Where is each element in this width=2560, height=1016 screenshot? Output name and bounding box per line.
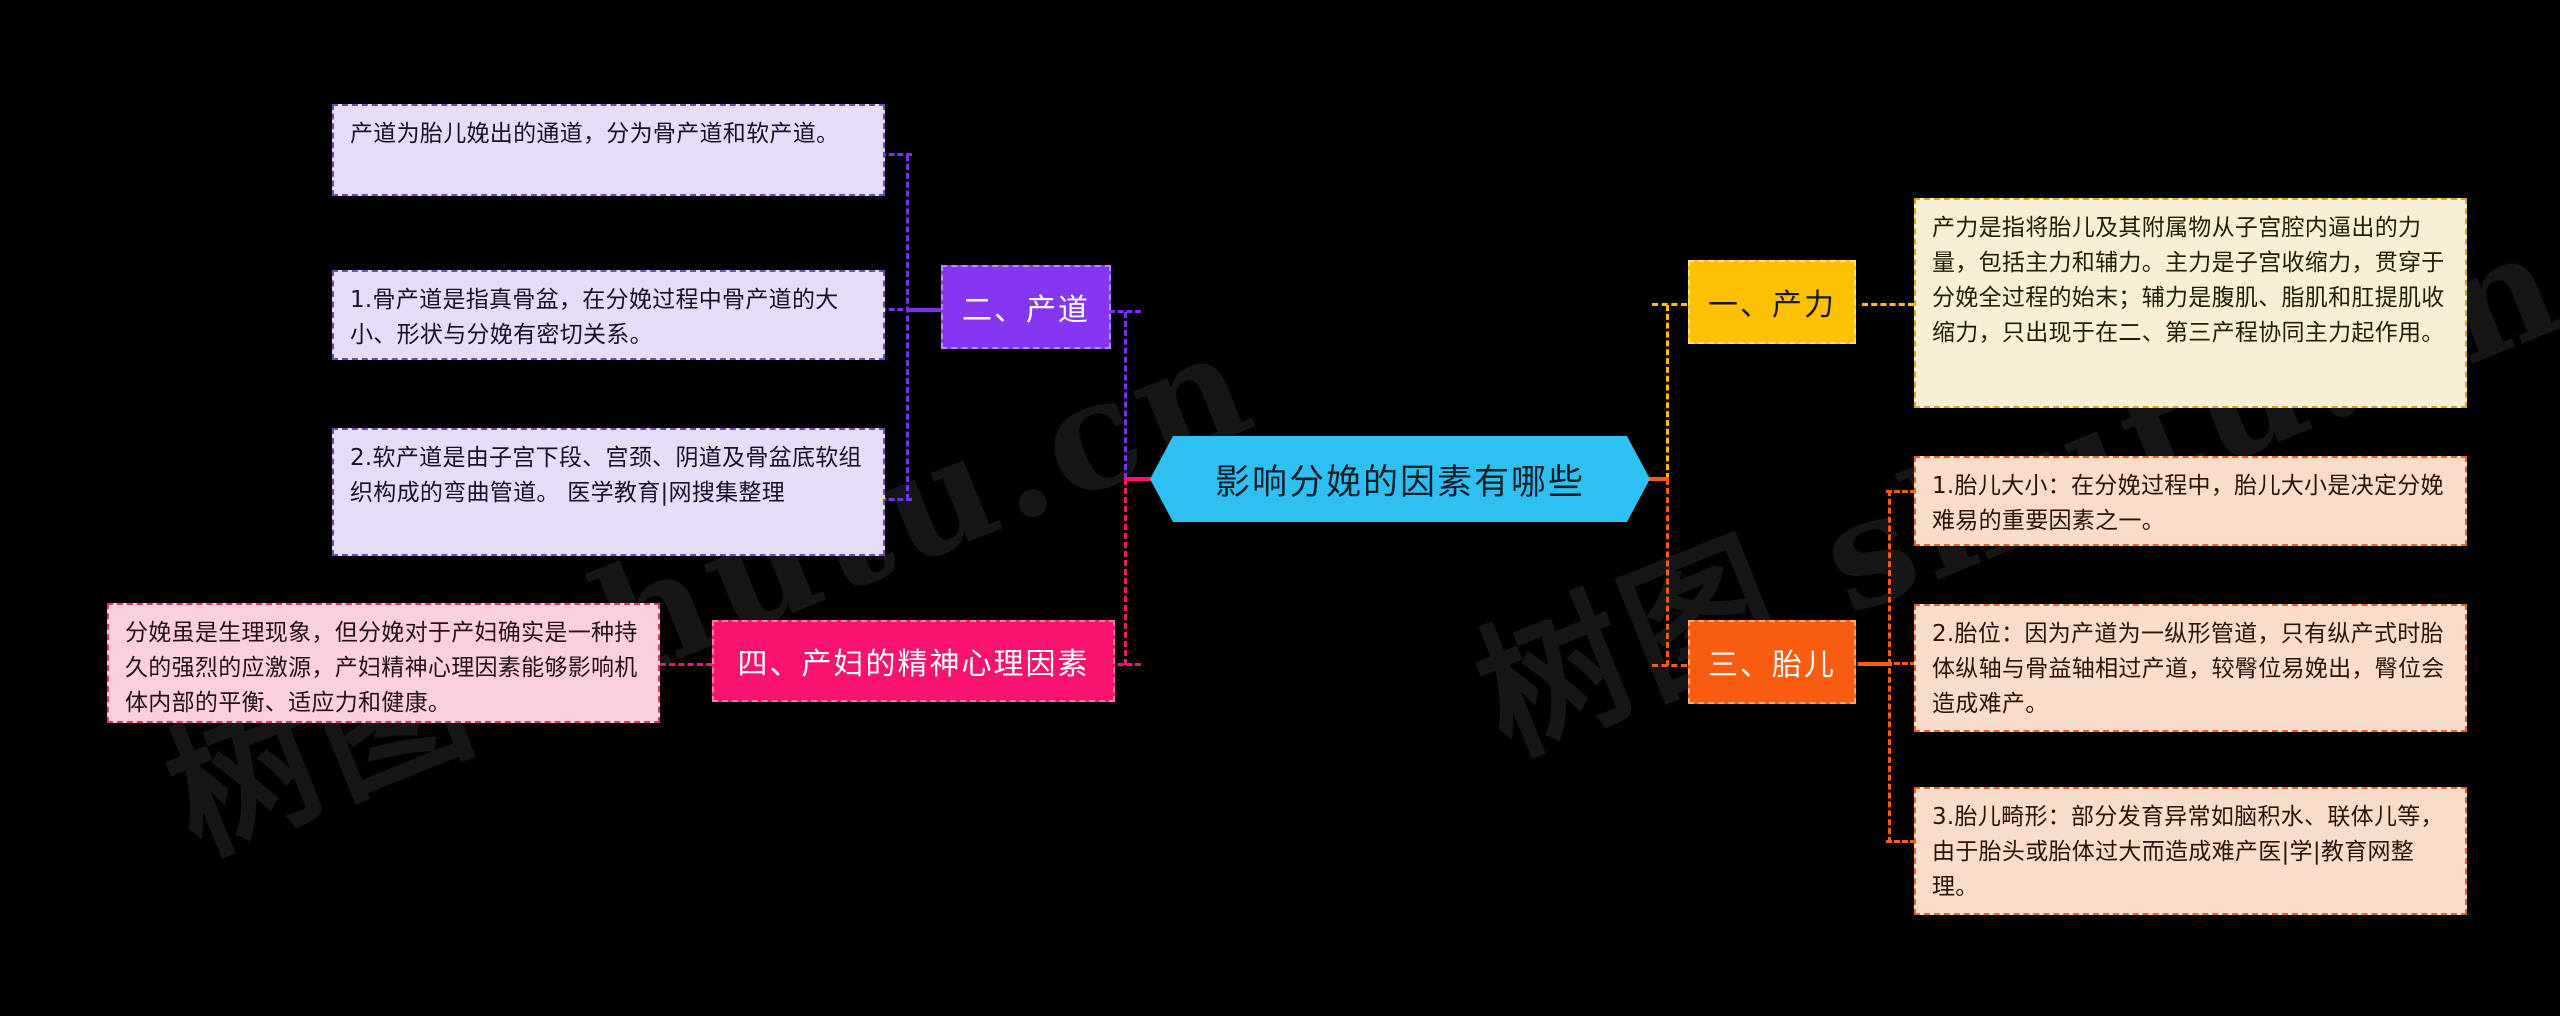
connector-chanli-child-1 [1862, 303, 1914, 306]
connector-root-to-chanli [1652, 303, 1687, 306]
connector-jingshen-child-1 [660, 663, 712, 666]
branch-node-taier-label: 三、胎儿 [1708, 640, 1836, 684]
leaf-chandao-2[interactable]: 1.骨产道是指真骨盆，在分娩过程中骨产道的大小、形状与分娩有密切关系。 [332, 270, 885, 360]
mindmap-canvas: 树图 shutu.cn 树图 shutu.cn 影响分娩的因素有哪些 二、产道 … [0, 0, 2560, 1016]
leaf-chandao-3[interactable]: 2.软产道是由子宫下段、宫颈、阴道及骨盆底软组织构成的弯曲管道。 医学教育|网搜… [332, 428, 885, 556]
center-node[interactable]: 影响分娩的因素有哪些 [1150, 436, 1650, 522]
leaf-jingshen-1[interactable]: 分娩虽是生理现象，但分娩对于产妇确实是一种持久的强烈的应激源，产妇精神心理因素能… [107, 603, 660, 723]
connector-chandao-spine [906, 155, 909, 500]
connector-root-right-upper [1666, 305, 1669, 479]
branch-node-jingshen-label: 四、产妇的精神心理因素 [738, 639, 1090, 683]
branch-node-chandao[interactable]: 二、产道 [941, 265, 1111, 349]
connector-taier-spine [1888, 490, 1891, 843]
branch-node-chandao-label: 二、产道 [962, 285, 1090, 329]
connector-root-left-lower [1124, 479, 1127, 665]
connector-taier-child-1 [1886, 490, 1916, 493]
leaf-chanli-1[interactable]: 产力是指将胎儿及其附属物从子宫腔内逼出的力量，包括主力和辅力。主力是子宫收缩力，… [1914, 198, 2467, 408]
connector-taier-child-2 [1886, 662, 1916, 665]
connector-root-right-lower [1666, 479, 1669, 666]
leaf-taier-1[interactable]: 1.胎儿大小：在分娩过程中，胎儿大小是决定分娩难易的重要因素之一。 [1914, 456, 2467, 546]
leaf-taier-3[interactable]: 3.胎儿畸形：部分发育异常如脑积水、联体儿等，由于胎头或胎体过大而造成难产医|学… [1914, 787, 2467, 915]
branch-node-chanli-label: 一、产力 [1708, 280, 1836, 324]
leaf-taier-2[interactable]: 2.胎位：因为产道为一纵形管道，只有纵产式时胎体纵轴与骨益轴相过产道，较臀位易娩… [1914, 604, 2467, 732]
branch-node-chanli[interactable]: 一、产力 [1688, 260, 1856, 344]
center-node-label: 影响分娩的因素有哪些 [1215, 454, 1585, 505]
connector-root-to-chandao [1109, 310, 1141, 313]
connector-root-left-upper [1124, 312, 1127, 479]
connector-taier-child-3 [1886, 840, 1916, 843]
branch-node-taier[interactable]: 三、胎儿 [1688, 620, 1856, 704]
connector-root-to-taier [1652, 664, 1687, 667]
leaf-chandao-1[interactable]: 产道为胎儿娩出的通道，分为骨产道和软产道。 [332, 104, 885, 196]
branch-node-jingshen[interactable]: 四、产妇的精神心理因素 [712, 620, 1115, 702]
